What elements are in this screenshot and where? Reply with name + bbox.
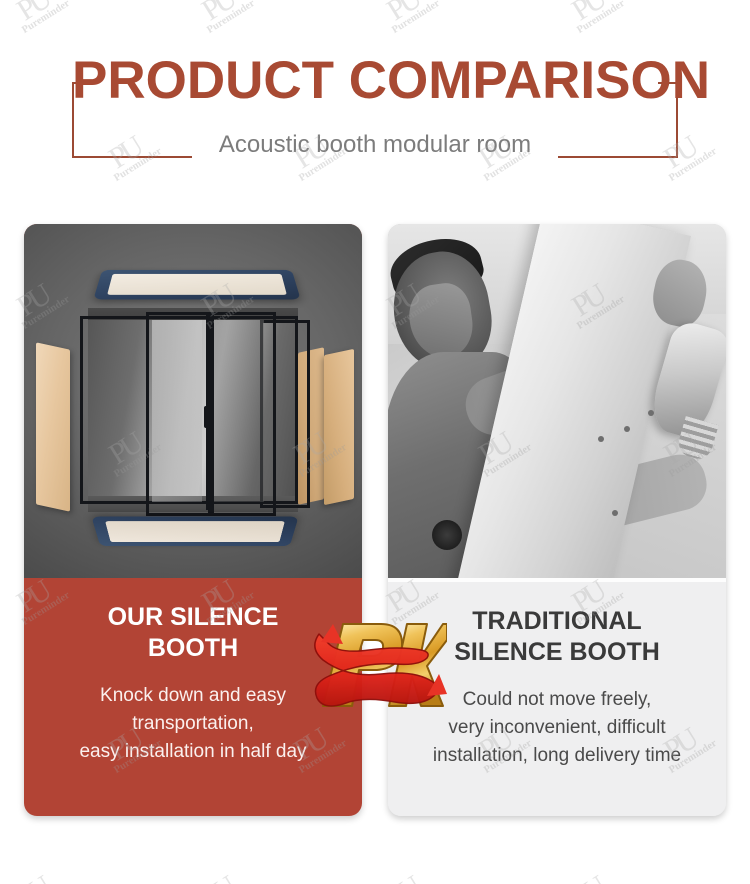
card-text-ours: OUR SILENCE BOOTH Knock down and easy tr… — [24, 578, 362, 816]
watermark-pureminder: PUPureminder — [172, 857, 268, 884]
comparison-cards: OUR SILENCE BOOTH Knock down and easy tr… — [0, 224, 750, 824]
card-title-line: BOOTH — [148, 634, 238, 662]
booth-door-frame-right — [208, 312, 276, 516]
watermark-monogram: PU — [357, 857, 449, 884]
card-title-line: OUR SILENCE — [108, 603, 279, 631]
watermark-monogram: PU — [542, 857, 634, 884]
watermark-monogram: PU — [172, 857, 264, 884]
card-desc-ours: Knock down and easy transportation, easy… — [38, 682, 348, 766]
watermark-wordmark: Pureminder — [195, 880, 268, 884]
header: PRODUCT COMPARISON Acoustic booth modula… — [0, 0, 750, 205]
card-desc-line: transportation, — [132, 713, 253, 734]
card-title-line: SILENCE BOOTH — [454, 638, 660, 666]
watermark-monogram: PU — [727, 857, 750, 884]
watermark-wordmark: Pureminder — [10, 880, 83, 884]
comparison-card-traditional: TRADITIONAL SILENCE BOOTH Could not move… — [388, 224, 726, 816]
card-title-ours: OUR SILENCE BOOTH — [38, 602, 348, 664]
card-desc-line: installation, long delivery time — [433, 745, 681, 766]
card-desc-traditional: Could not move freely, very inconvenient… — [402, 686, 712, 770]
card-title-line: TRADITIONAL — [472, 607, 641, 635]
photo-screw-hole — [624, 426, 630, 432]
card-desc-line: very inconvenient, difficult — [448, 717, 665, 738]
card-desc-line: Could not move freely, — [463, 689, 652, 710]
watermark-monogram: PU — [0, 857, 79, 884]
wood-panel-right — [324, 349, 354, 505]
photo-screw-hole — [648, 410, 654, 416]
booth-ceiling-panel — [93, 270, 300, 300]
worker-installation-photo — [388, 224, 726, 578]
page-title: PRODUCT COMPARISON — [72, 48, 678, 114]
comparison-card-ours: OUR SILENCE BOOTH Knock down and easy tr… — [24, 224, 362, 816]
photo-screw-hole — [612, 510, 618, 516]
watermark-wordmark: Pureminder — [380, 880, 453, 884]
page-subtitle: Acoustic booth modular room — [72, 130, 678, 160]
card-desc-line: easy installation in half day — [79, 741, 306, 762]
watermark-wordmark: Pureminder — [565, 880, 638, 884]
booth-floor-panel — [91, 517, 298, 547]
photo-shirt-badge — [432, 520, 462, 550]
watermark-pureminder: PUPureminder — [727, 857, 750, 884]
card-text-traditional: TRADITIONAL SILENCE BOOTH Could not move… — [388, 582, 726, 816]
photo-screw-hole — [598, 436, 604, 442]
watermark-pureminder: PUPureminder — [542, 857, 638, 884]
booth-exploded-illustration — [24, 224, 362, 578]
wood-panel-left — [36, 342, 70, 511]
title-bracket-frame: PRODUCT COMPARISON Acoustic booth modula… — [72, 48, 678, 158]
card-title-traditional: TRADITIONAL SILENCE BOOTH — [402, 606, 712, 668]
card-desc-line: Knock down and easy — [100, 685, 286, 706]
booth-graphic — [24, 224, 362, 578]
watermark-pureminder: PUPureminder — [0, 857, 83, 884]
watermark-pureminder: PUPureminder — [357, 857, 453, 884]
booth-door-handle — [204, 406, 211, 428]
